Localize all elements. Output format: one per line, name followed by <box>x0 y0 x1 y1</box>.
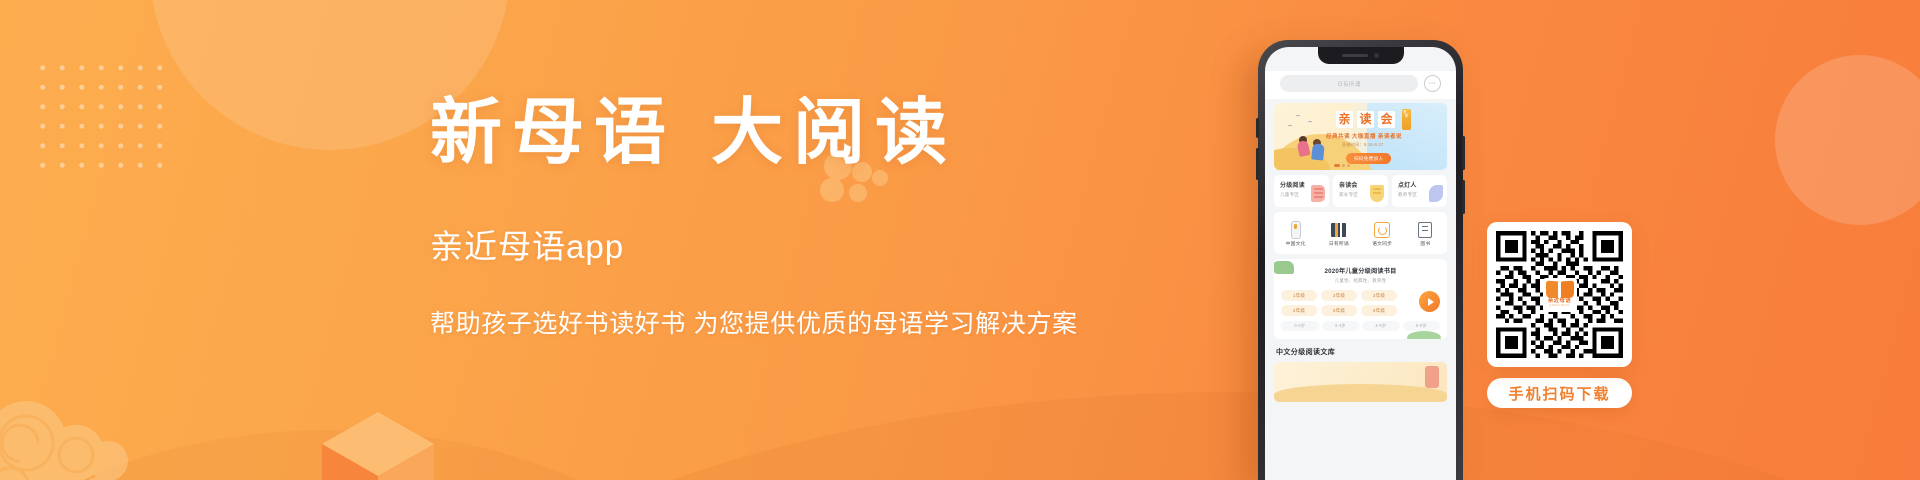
shortcut-row: 中国文化 日有所诵 语文同步 图书 <box>1274 212 1447 254</box>
phone-power-button <box>1462 136 1465 170</box>
carousel-dot-active[interactable] <box>1334 164 1340 167</box>
decor-cloud-icon <box>0 395 230 480</box>
phone-volume-down-button <box>1256 148 1259 180</box>
grade-chip[interactable]: 3年级 <box>1361 290 1397 301</box>
leaf-icon <box>1407 331 1441 339</box>
carousel-dot[interactable] <box>1347 164 1350 167</box>
carousel-dots[interactable] <box>1334 164 1350 167</box>
category-card-teacher[interactable]: 点灯人 教师专区 <box>1392 175 1447 207</box>
category-card-parent-club[interactable]: 亲读会 家长专区 <box>1333 175 1388 207</box>
bird-icon <box>1296 115 1300 118</box>
shortcut-books[interactable]: 图书 <box>1404 219 1447 247</box>
category-cards: 分级阅读 儿童专区 亲读会 家长专区 点灯人 教师专区 <box>1274 175 1447 207</box>
brand-pinyin: QINJIN MUYU <box>1549 305 1569 308</box>
category-card-graded-reading[interactable]: 分级阅读 儿童专区 <box>1274 175 1329 207</box>
hero-date: 直播时间：9.16-9.27 <box>1342 142 1383 148</box>
page-title: 新母语 大阅读 <box>430 96 1250 168</box>
phone-mockup: 日有所诵 ··· <box>1258 40 1463 480</box>
search-row: 日有所诵 ··· <box>1265 71 1456 99</box>
app-content: 日有所诵 ··· <box>1265 47 1456 402</box>
carousel-dot[interactable] <box>1342 164 1345 167</box>
bookmark-icon <box>1425 366 1439 388</box>
play-video-button[interactable] <box>1419 291 1440 312</box>
decor-circle-top-right <box>1775 55 1920 225</box>
hero-subtitle: 经典共读 大咖直播 亲读者说 <box>1326 132 1402 140</box>
bird-icon <box>1308 121 1312 124</box>
grade-chip[interactable]: 2年级 <box>1321 290 1357 301</box>
book-icon <box>1311 185 1325 202</box>
promo-banner: 新母语 大阅读 亲近母语app 帮助孩子选好书读好书 为您提供优质的母语学习解决… <box>0 0 1920 480</box>
book-icon <box>1331 223 1346 237</box>
age-chip[interactable]: 3-4岁 <box>1322 321 1360 331</box>
lamp-icon <box>1429 185 1443 202</box>
grade-selector: 1年级 2年级 3年级 4年级 5年级 6年级 <box>1281 290 1440 316</box>
list-icon <box>1418 222 1432 238</box>
shortcut-label: 图书 <box>1404 240 1447 247</box>
headline-block: 新母语 大阅读 亲近母语app 帮助孩子选好书读好书 为您提供优质的母语学习解决… <box>430 96 1250 340</box>
phone-volume-up-button <box>1256 118 1259 138</box>
hero-title-char: 会 <box>1378 111 1395 128</box>
hero-banner[interactable]: 亲 读 会 第二季 经典共读 大咖直播 亲读者说 直播时间：9.16-9.27 … <box>1274 103 1447 170</box>
library-card[interactable] <box>1274 362 1447 402</box>
shortcut-label: 日有所诵 <box>1317 240 1360 247</box>
phone-screen: 日有所诵 ··· <box>1265 47 1456 480</box>
booklist-title: 2020年儿童分级阅读书目 <box>1281 266 1440 275</box>
age-chip[interactable]: 0-3岁 <box>1281 321 1319 331</box>
booklist-subtitle: 儿童性、经典性、教育性 <box>1281 278 1440 284</box>
booklist-card: 2020年儿童分级阅读书目 儿童性、经典性、教育性 1年级 2年级 3年级 4年… <box>1274 259 1447 339</box>
qr-center-logo: 亲近母语 QINJIN MUYU <box>1543 278 1577 312</box>
shortcut-label: 语文同步 <box>1361 240 1404 247</box>
age-selector: 0-3岁 3-4岁 4-5岁 5-6岁 <box>1281 321 1440 331</box>
scroll-icon <box>1370 185 1384 202</box>
grade-chip[interactable]: 5年级 <box>1321 305 1357 316</box>
phone-notch <box>1318 47 1404 64</box>
age-chip[interactable]: 5-6岁 <box>1403 321 1441 331</box>
grade-chip[interactable]: 6年级 <box>1361 305 1397 316</box>
decor-cube-icon <box>318 408 438 480</box>
kid-body-icon <box>1311 143 1325 160</box>
search-input[interactable]: 日有所诵 <box>1280 75 1418 92</box>
bird-icon <box>1288 125 1292 128</box>
decor-hill-secondary <box>0 430 780 480</box>
leaf-icon <box>1274 261 1294 274</box>
library-card-band <box>1274 384 1447 402</box>
grade-chip[interactable]: 4年级 <box>1281 305 1317 316</box>
hero-title-char: 读 <box>1357 111 1374 128</box>
hero-title: 亲 读 会 <box>1336 111 1395 128</box>
hero-title-char: 亲 <box>1336 111 1353 128</box>
phone-side-button <box>1462 180 1465 214</box>
shortcut-label: 中国文化 <box>1274 240 1317 247</box>
app-name: 亲近母语app <box>430 220 1250 268</box>
message-icon[interactable]: ··· <box>1424 75 1441 92</box>
hero-season-stamp: 第二季 <box>1402 109 1411 130</box>
speaker-icon <box>1342 54 1368 57</box>
qr-code[interactable]: 亲近母语 QINJIN MUYU <box>1487 222 1632 367</box>
play-icon <box>1428 298 1434 306</box>
message-icon-glyph: ··· <box>1429 81 1436 87</box>
search-placeholder: 日有所诵 <box>1337 80 1361 88</box>
brush-icon <box>1291 221 1301 239</box>
tagline: 帮助孩子选好书读好书 为您提供优质的母语学习解决方案 <box>430 304 1250 340</box>
shortcut-chinese-culture[interactable]: 中国文化 <box>1274 219 1317 247</box>
download-button[interactable]: 手机扫码下载 <box>1487 378 1632 408</box>
decor-dot-grid <box>30 55 166 177</box>
grade-chip[interactable]: 1年级 <box>1281 290 1317 301</box>
sync-icon <box>1374 222 1390 238</box>
hero-cta-button[interactable]: 扫码免费加入 <box>1346 153 1391 164</box>
age-chip[interactable]: 4-5岁 <box>1362 321 1400 331</box>
qr-block: 亲近母语 QINJIN MUYU 手机扫码下载 <box>1487 222 1632 408</box>
shortcut-textbook-sync[interactable]: 语文同步 <box>1361 219 1404 247</box>
shortcut-daily-recite[interactable]: 日有所诵 <box>1317 219 1360 247</box>
camera-icon <box>1374 53 1379 58</box>
section-title-library: 中文分级阅读文库 <box>1276 347 1445 357</box>
decor-hill <box>280 392 1920 480</box>
open-book-icon <box>1546 281 1574 298</box>
